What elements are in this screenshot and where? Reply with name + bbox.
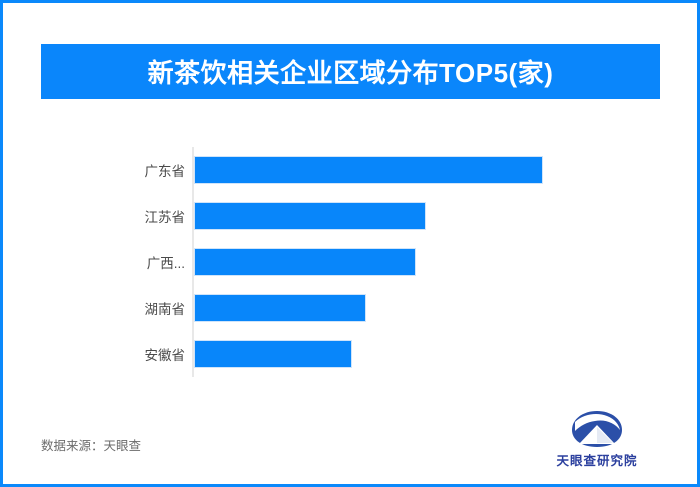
bar-track-1 [194, 202, 426, 230]
bar-chart: 广东省 江苏省 广西... 湖南省 [3, 133, 700, 373]
brand-logo: 天眼查研究院 [537, 409, 657, 471]
brand-logo-text: 天眼查研究院 [556, 450, 637, 469]
bar-4[interactable] [194, 340, 352, 368]
bar-0[interactable] [194, 156, 543, 184]
data-source-note: 数据来源：天眼查 [41, 435, 141, 454]
bar-row: 广西... [3, 239, 700, 285]
bar-rows: 广东省 江苏省 广西... 湖南省 [3, 147, 700, 377]
page-title: 新茶饮相关企业区域分布TOP5(家) [148, 53, 554, 90]
category-label-4: 安徽省 [3, 344, 185, 364]
bar-2[interactable] [194, 248, 416, 276]
bar-track-4 [194, 340, 352, 368]
bar-row: 江苏省 [3, 193, 700, 239]
category-label-1: 江苏省 [3, 206, 185, 226]
bar-track-2 [194, 248, 416, 276]
chart-page: 新茶饮相关企业区域分布TOP5(家) 广东省 江苏省 广西... [0, 0, 700, 487]
bar-row: 湖南省 [3, 285, 700, 331]
bar-row: 安徽省 [3, 331, 700, 377]
chart-title-banner: 新茶饮相关企业区域分布TOP5(家) [41, 44, 660, 99]
category-label-3: 湖南省 [3, 298, 185, 318]
category-label-2: 广西... [3, 252, 185, 272]
category-label-0: 广东省 [3, 160, 185, 180]
bar-3[interactable] [194, 294, 366, 322]
tianyancha-eye-mountain-logo-icon [571, 409, 623, 449]
bar-track-3 [194, 294, 366, 322]
bar-track-0 [194, 156, 543, 184]
bar-1[interactable] [194, 202, 426, 230]
bar-row: 广东省 [3, 147, 700, 193]
